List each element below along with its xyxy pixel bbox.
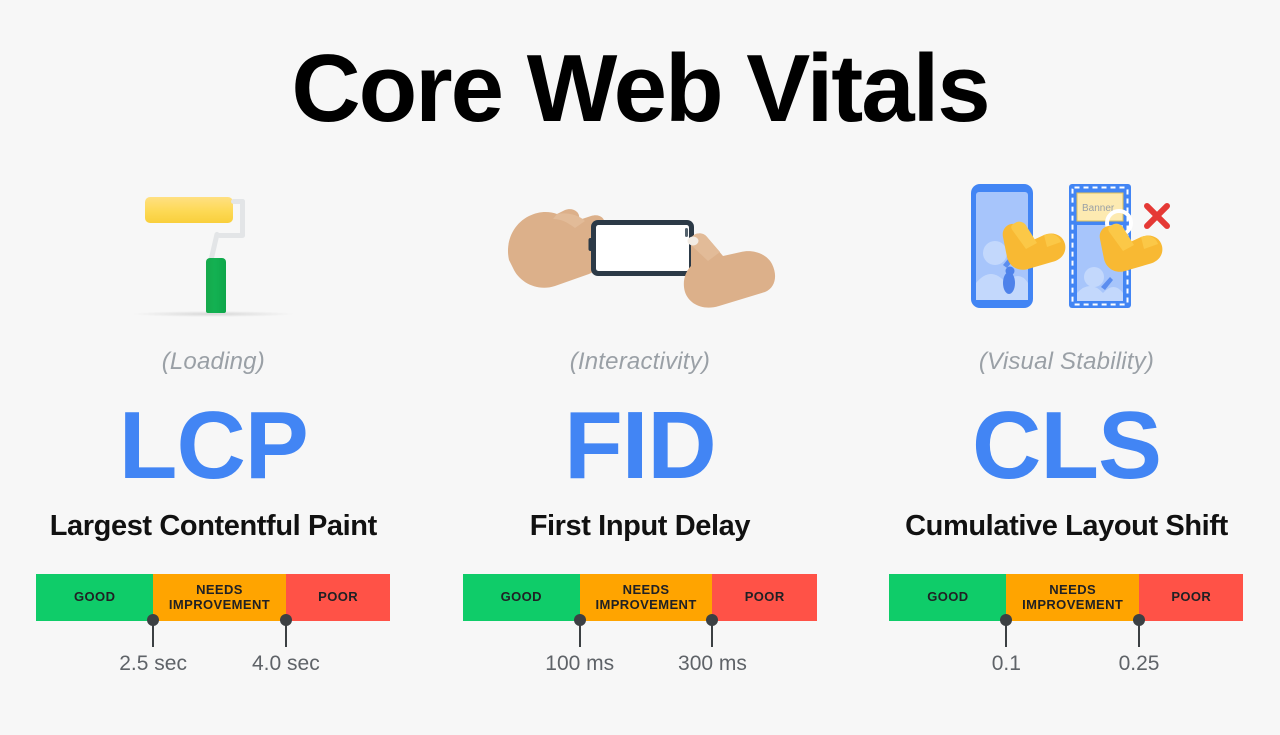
hands-phone-svg — [495, 190, 785, 320]
scale-segment-needs-improvement: NEEDS IMPROVEMENT — [1006, 574, 1139, 621]
threshold-scale-cls: GOOD NEEDS IMPROVEMENT POOR 0.1 0.25 — [889, 574, 1243, 621]
paint-roller-icon — [133, 180, 293, 320]
threshold-value: 4.0 sec — [252, 652, 320, 676]
illustration-visual-stability: Banner — [853, 170, 1280, 320]
scale-segment-poor: POOR — [1139, 574, 1243, 621]
scale-bar: GOOD NEEDS IMPROVEMENT POOR — [463, 574, 817, 621]
illustration-interactivity — [427, 170, 854, 320]
threshold-value: 0.1 — [992, 652, 1021, 676]
metric-fullname: First Input Delay — [530, 510, 750, 543]
threshold-scale-lcp: GOOD NEEDS IMPROVEMENT POOR 2.5 sec 4.0 … — [36, 574, 390, 621]
roller-frame-horizontal — [217, 233, 245, 238]
layout-shift-svg: Banner — [951, 165, 1181, 320]
fingertip-highlight — [687, 237, 698, 246]
illustration-loading — [0, 170, 427, 320]
metric-category-label: (Loading) — [162, 348, 265, 376]
metric-acronym: FID — [564, 398, 716, 494]
metric-column-cls: Banner — [853, 170, 1280, 621]
pointing-hand-right-icon — [1100, 224, 1163, 272]
metric-category-label: (Interactivity) — [570, 348, 710, 376]
roller-grip — [206, 258, 226, 313]
metric-column-lcp: (Loading) LCP Largest Contentful Paint G… — [0, 170, 427, 621]
error-x-icon — [1147, 206, 1167, 226]
scale-bar: GOOD NEEDS IMPROVEMENT POOR — [889, 574, 1243, 621]
page-title: Core Web Vitals — [0, 34, 1280, 144]
phone-speaker — [685, 228, 688, 237]
hand-tapping-phone-icon — [495, 190, 785, 320]
scale-segment-good: GOOD — [36, 574, 153, 621]
threshold-value: 2.5 sec — [119, 652, 187, 676]
threshold-stem — [152, 620, 154, 647]
threshold-stem — [285, 620, 287, 647]
phone-side-button — [588, 238, 593, 251]
metric-acronym: LCP — [119, 398, 308, 494]
threshold-value: 300 ms — [678, 652, 747, 676]
metric-fullname: Largest Contentful Paint — [50, 510, 377, 543]
metric-column-fid: (Interactivity) FID First Input Delay GO… — [427, 170, 854, 621]
roller-frame-vertical — [240, 199, 245, 237]
threshold-stem — [1005, 620, 1007, 647]
scale-segment-poor: POOR — [712, 574, 816, 621]
metric-fullname: Cumulative Layout Shift — [905, 510, 1228, 543]
threshold-stem — [711, 620, 713, 647]
scale-segment-needs-improvement: NEEDS IMPROVEMENT — [580, 574, 713, 621]
threshold-scale-fid: GOOD NEEDS IMPROVEMENT POOR 100 ms 300 m… — [463, 574, 817, 621]
metric-category-label: (Visual Stability) — [979, 348, 1154, 376]
scale-bar: GOOD NEEDS IMPROVEMENT POOR — [36, 574, 390, 621]
scale-segment-good: GOOD — [889, 574, 1006, 621]
metric-acronym: CLS — [972, 398, 1161, 494]
scale-segment-poor: POOR — [286, 574, 390, 621]
roller-pad — [145, 197, 233, 223]
pointing-hand-left-icon — [1003, 222, 1066, 270]
threshold-value: 0.25 — [1119, 652, 1160, 676]
threshold-stem — [1138, 620, 1140, 647]
threshold-stem — [579, 620, 581, 647]
metrics-row: (Loading) LCP Largest Contentful Paint G… — [0, 170, 1280, 621]
scale-segment-needs-improvement: NEEDS IMPROVEMENT — [153, 574, 286, 621]
threshold-value: 100 ms — [545, 652, 614, 676]
scale-segment-good: GOOD — [463, 574, 580, 621]
layout-shift-phones-icon: Banner — [951, 165, 1181, 320]
phone-screen — [596, 225, 689, 271]
